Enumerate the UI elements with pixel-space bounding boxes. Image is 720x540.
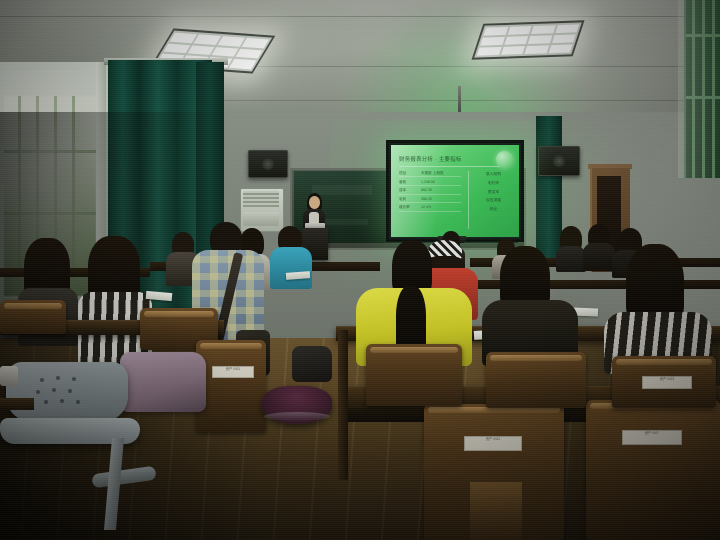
student-back-mid-body bbox=[583, 243, 615, 271]
table-cell-value: 386.20 bbox=[421, 197, 461, 201]
asset-tag: 资产 0417 bbox=[622, 430, 682, 445]
side-table bbox=[0, 398, 34, 410]
list-item: 现金流量 bbox=[476, 198, 511, 203]
air-conditioner-panel bbox=[243, 212, 279, 226]
table-row: 成本 862.30 bbox=[399, 188, 461, 194]
classroom-scene: 财务报表分析 · 主要指标 项目 本期数 上期数 营收 1,248.50 成本 bbox=[0, 0, 720, 540]
chair-mid-c[interactable]: 资产 0423 bbox=[612, 356, 716, 408]
desk-front-leg bbox=[338, 330, 348, 480]
table-cell-value: 12.4% bbox=[421, 205, 461, 209]
list-item: 毛利率 bbox=[476, 181, 511, 186]
presenter-head bbox=[309, 196, 320, 209]
list-item: 费用率 bbox=[476, 190, 511, 195]
grille-daylight bbox=[678, 0, 720, 178]
table-cell-label: 成本 bbox=[399, 188, 418, 192]
slide-table: 项目 本期数 上期数 营收 1,248.50 成本 862.30 毛利 386.… bbox=[399, 171, 461, 229]
chair-front-right[interactable]: 资产 0417 bbox=[586, 400, 720, 540]
slide-title-divider bbox=[399, 166, 507, 167]
bag-black[interactable] bbox=[292, 346, 332, 382]
chair-left-c[interactable] bbox=[0, 300, 66, 334]
fluorescent-panel-right-icon bbox=[471, 20, 584, 59]
wall-speaker-right-icon bbox=[538, 146, 580, 176]
table-cell-label: 毛利 bbox=[399, 197, 418, 201]
table-row: 增长率 12.4% bbox=[399, 205, 461, 211]
wall-speaker-left-icon bbox=[248, 150, 288, 178]
student-back-left-body bbox=[556, 246, 586, 272]
table-row: 毛利 386.20 bbox=[399, 197, 461, 203]
table-cell-label: 营收 bbox=[399, 180, 418, 184]
curtain-right[interactable] bbox=[536, 116, 562, 266]
list-item: 收入结构 bbox=[476, 172, 511, 177]
slide-body: 项目 本期数 上期数 营收 1,248.50 成本 862.30 毛利 386.… bbox=[399, 171, 511, 229]
slide-bullet-list: 收入结构 毛利率 费用率 现金流量 结论 bbox=[476, 171, 511, 229]
table-cell-value: 本期数 上期数 bbox=[421, 171, 461, 175]
cup-icon[interactable] bbox=[0, 366, 18, 386]
bag-purple-rim bbox=[264, 412, 330, 421]
ceiling-seam bbox=[0, 16, 720, 17]
list-item: 结论 bbox=[476, 207, 511, 212]
slide-content: 财务报表分析 · 主要指标 项目 本期数 上期数 营收 1,248.50 成本 bbox=[391, 145, 519, 237]
slide-title: 财务报表分析 · 主要指标 bbox=[399, 154, 489, 163]
slide-column-divider bbox=[468, 171, 469, 229]
plastic-chair-back[interactable] bbox=[6, 362, 128, 422]
chair-mid-b[interactable] bbox=[486, 352, 586, 408]
table-cell-value: 862.30 bbox=[421, 188, 461, 192]
chair-front-left-seat bbox=[470, 482, 522, 540]
table-cell-label: 项目 bbox=[399, 171, 418, 175]
air-conditioner-vent bbox=[243, 191, 279, 207]
chart-bubble-icon bbox=[496, 151, 513, 168]
student-teal-body bbox=[270, 247, 312, 289]
table-cell-value: 1,248.50 bbox=[421, 180, 461, 184]
chair-left-b[interactable]: 资产 0431 bbox=[196, 340, 266, 432]
cushion[interactable] bbox=[120, 352, 206, 412]
table-row: 项目 本期数 上期数 bbox=[399, 171, 461, 177]
asset-tag: 资产 0412 bbox=[464, 436, 522, 451]
table-cell-label: 增长率 bbox=[399, 205, 418, 209]
asset-tag: 资产 0423 bbox=[642, 376, 692, 389]
chair-mid-a[interactable] bbox=[366, 344, 462, 406]
projection-screen: 财务报表分析 · 主要指标 项目 本期数 上期数 营收 1,248.50 成本 bbox=[386, 140, 524, 242]
asset-tag: 资产 0431 bbox=[212, 366, 254, 378]
table-row: 营收 1,248.50 bbox=[399, 180, 461, 186]
